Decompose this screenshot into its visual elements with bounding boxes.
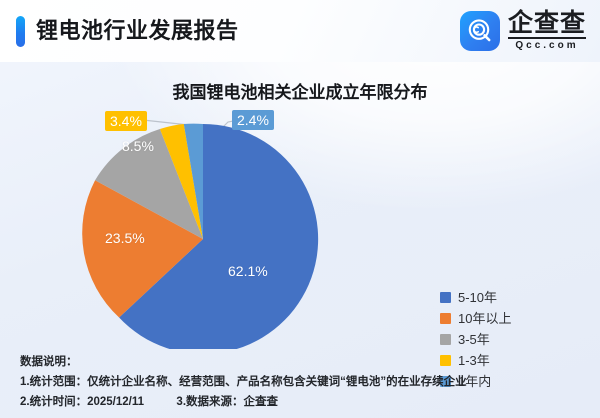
pie-callout-under-1: 2.4% (232, 110, 274, 130)
brand-name-en: Qcc.com (508, 37, 586, 52)
title-accent-bar (16, 16, 25, 47)
report-page: 锂电池行业发展报告 企查查 Qcc.com 我国锂电池相关企业成立年限分布 (0, 0, 600, 418)
footer-notes: 数据说明： 1.统计范围：仅统计企业名称、经营范围、产品名称包含关键词“锂电池”… (20, 352, 586, 412)
pie-chart: 62.1% 23.5% 8.5% 3.4% 2.4% 5-10年 10年以上 3… (0, 100, 600, 350)
legend-item-5-10[interactable]: 5-10年 (440, 291, 511, 304)
footer-heading: 数据说明： (20, 352, 586, 372)
page-header: 锂电池行业发展报告 企查查 Qcc.com (0, 0, 600, 62)
pie-svg (58, 104, 348, 349)
legend-label: 3-5年 (458, 333, 490, 346)
legend-item-over-10[interactable]: 10年以上 (440, 312, 511, 325)
footer-data-source: 3.数据来源：企查查 (176, 392, 278, 412)
brand-text: 企查查 Qcc.com (508, 10, 586, 52)
brand-name-cn: 企查查 (508, 10, 586, 36)
legend-label: 10年以上 (458, 312, 511, 325)
qcc-magnifier-logo-icon (460, 11, 500, 51)
legend-swatch-icon (440, 334, 451, 345)
pie-callout-1-3: 3.4% (105, 111, 147, 131)
pie-label-5-10: 62.1% (228, 263, 268, 279)
legend-swatch-icon (440, 313, 451, 324)
footer-scope-note: 1.统计范围：仅统计企业名称、经营范围、产品名称包含关键词“锂电池”的在业存续企… (20, 372, 586, 392)
legend-item-3-5[interactable]: 3-5年 (440, 333, 511, 346)
brand-logo: 企查查 Qcc.com (460, 10, 586, 52)
footer-stat-date: 2.统计时间：2025/12/11 (20, 392, 144, 412)
page-title: 锂电池行业发展报告 (36, 14, 239, 48)
legend-label: 5-10年 (458, 291, 497, 304)
pie-label-over-10: 23.5% (105, 230, 145, 246)
legend-swatch-icon (440, 292, 451, 303)
pie-label-3-5: 8.5% (122, 138, 154, 154)
footer-meta-line: 2.统计时间：2025/12/11 3.数据来源：企查查 (20, 392, 586, 412)
